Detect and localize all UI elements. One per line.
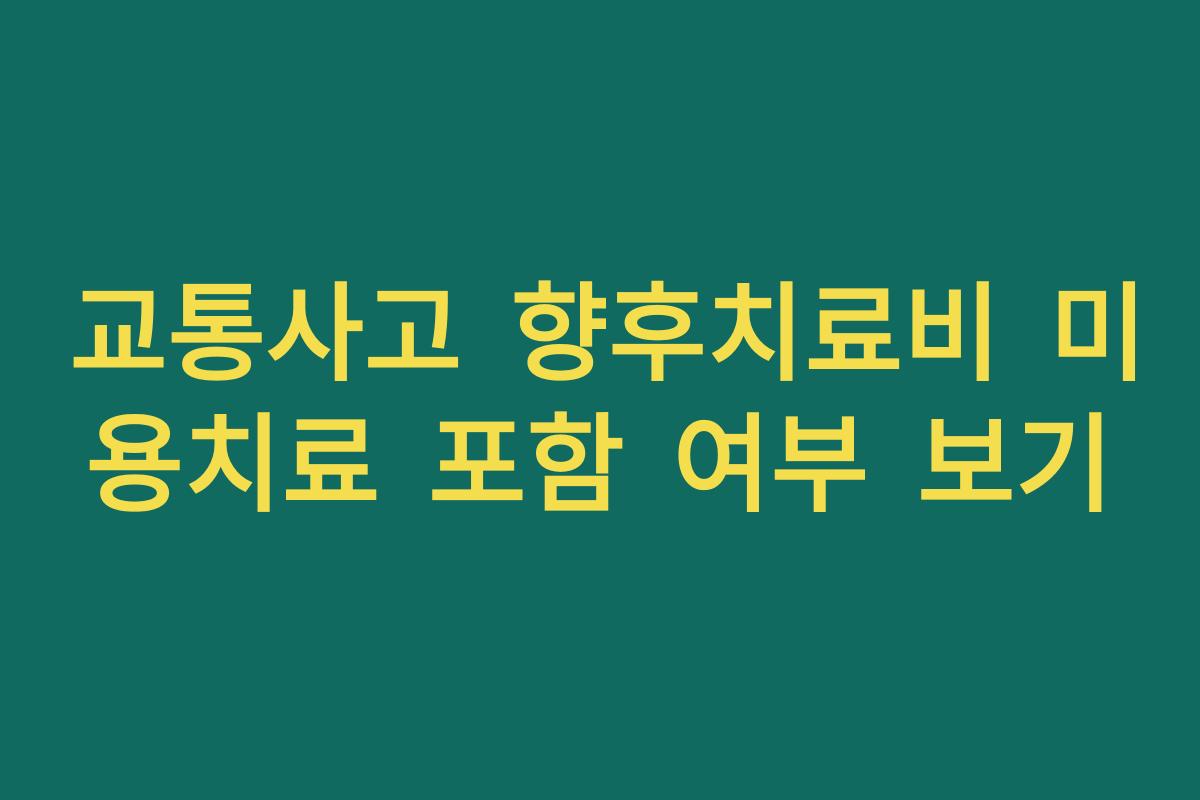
headline-line-1: 교통사고 향후치료비 미 (70, 269, 1130, 400)
banner-canvas: 교통사고 향후치료비 미 용치료 포함 여부 보기 (0, 0, 1200, 800)
headline-text: 교통사고 향후치료비 미 용치료 포함 여부 보기 (70, 269, 1130, 532)
headline-line-2: 용치료 포함 여부 보기 (70, 400, 1130, 531)
